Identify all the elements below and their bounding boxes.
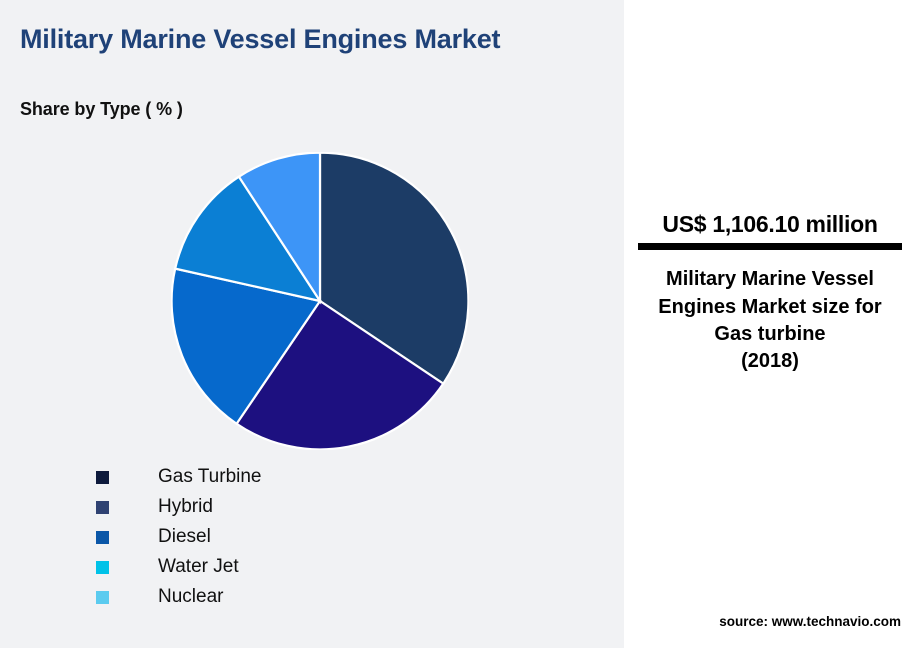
legend-item-label: Nuclear (158, 586, 223, 608)
chart-page: Military Marine Vessel Engines Market Sh… (0, 0, 915, 648)
legend-swatch-icon (96, 501, 109, 514)
legend-item-label: Water Jet (158, 556, 239, 578)
legend-item-label: Hybrid (158, 496, 213, 518)
chart-legend: Gas TurbineHybridDieselWater JetNuclear (96, 462, 516, 612)
callout-panel: US$ 1,106.10 million Military Marine Ves… (624, 0, 915, 648)
chart-panel: Military Marine Vessel Engines Market Sh… (0, 0, 620, 648)
callout-description: Military Marine Vessel Engines Market si… (638, 266, 902, 375)
callout-divider (638, 243, 902, 250)
callout-card: US$ 1,106.10 million Military Marine Ves… (638, 209, 902, 375)
legend-swatch-icon (96, 591, 109, 604)
legend-swatch-icon (96, 531, 109, 544)
page-title: Military Marine Vessel Engines Market (20, 24, 540, 55)
legend-item-nuclear[interactable]: Nuclear (96, 582, 516, 612)
legend-item-water-jet[interactable]: Water Jet (96, 552, 516, 582)
pie-chart (171, 152, 469, 450)
legend-item-hybrid[interactable]: Hybrid (96, 492, 516, 522)
legend-item-diesel[interactable]: Diesel (96, 522, 516, 552)
legend-swatch-icon (96, 561, 109, 574)
legend-item-label: Gas Turbine (158, 466, 262, 488)
legend-item-gas-turbine[interactable]: Gas Turbine (96, 462, 516, 492)
legend-swatch-icon (96, 471, 109, 484)
pie-chart-svg (171, 152, 469, 450)
chart-subtitle: Share by Type ( % ) (20, 99, 183, 120)
legend-item-label: Diesel (158, 526, 211, 548)
callout-value: US$ 1,106.10 million (638, 209, 902, 239)
pie-slice-group (172, 153, 469, 450)
source-label: source: www.technavio.com (624, 614, 901, 629)
